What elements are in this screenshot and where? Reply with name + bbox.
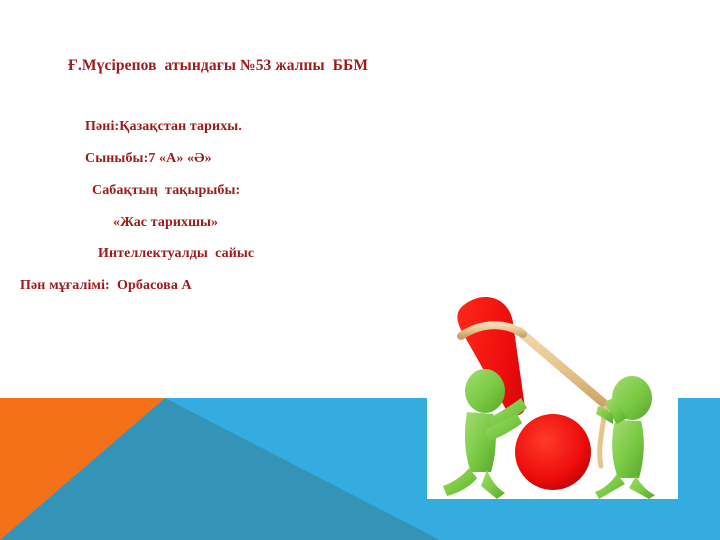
contest-type-line: Интеллектуалды сайыс [98,246,254,262]
lesson-topic-name: «Жас тарихшы» [113,215,218,231]
exclamation-dot-shape [515,414,591,490]
lesson-topic-label: Сабақтың тақырыбы: [92,183,240,199]
teacher-line: Пән мұғалімі: Орбасова А [20,278,192,294]
class-line: Сыныбы:7 «А» «Ә» [85,151,212,167]
exclamation-mark-carried-icon [427,290,678,499]
slide-title: Ғ.Мүсірепов атындағы №53 жалпы ББМ [68,57,368,75]
slide-canvas: Ғ.Мүсірепов атындағы №53 жалпы ББМ Пәні:… [0,0,720,540]
subject-line: Пәні:Қазақстан тарихы. [85,119,242,135]
illustration-image [427,290,678,499]
